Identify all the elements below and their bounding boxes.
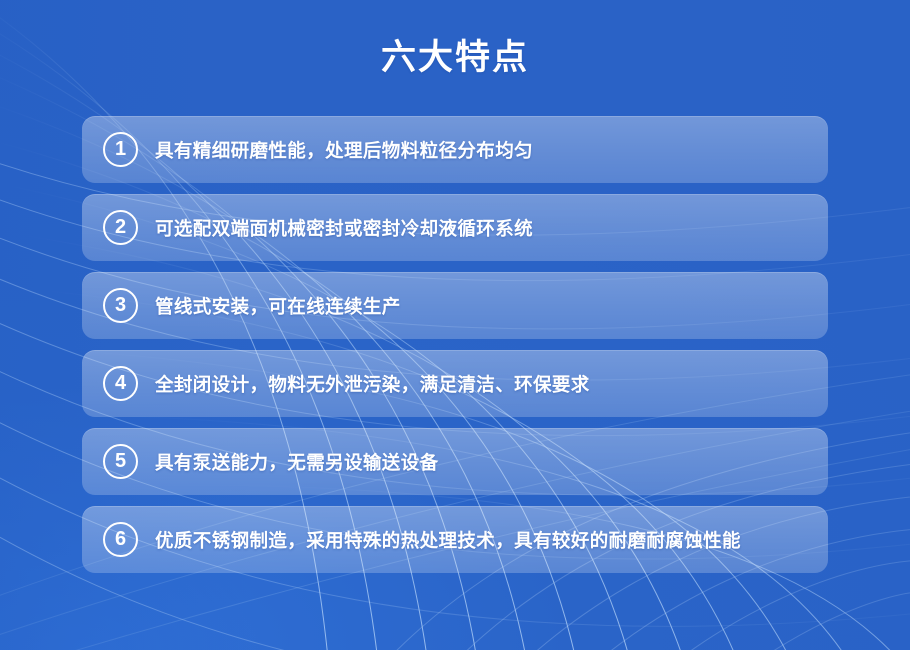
feature-list: 1 具有精细研磨性能，处理后物料粒径分布均匀 2 可选配双端面机械密封或密封冷却… [82,116,828,584]
feature-number-badge-5: 5 [103,444,138,479]
feature-number-badge-2: 2 [103,210,138,245]
feature-highlight-banner: 六大特点 1 具有精细研磨性能，处理后物料粒径分布均匀 2 可选配双端面机械密封… [0,0,910,650]
feature-text-3: 管线式安装，可在线连续生产 [155,293,401,319]
feature-text-6: 优质不锈钢制造，采用特殊的热处理技术，具有较好的耐磨耐腐蚀性能 [155,527,741,553]
feature-item-5[interactable]: 5 具有泵送能力，无需另设输送设备 [82,428,828,495]
feature-text-5: 具有泵送能力，无需另设输送设备 [155,449,439,475]
feature-item-6[interactable]: 6 优质不锈钢制造，采用特殊的热处理技术，具有较好的耐磨耐腐蚀性能 [82,506,828,573]
feature-item-2[interactable]: 2 可选配双端面机械密封或密封冷却液循环系统 [82,194,828,261]
feature-text-2: 可选配双端面机械密封或密封冷却液循环系统 [155,215,533,241]
page-title: 六大特点 [0,36,910,80]
feature-item-4[interactable]: 4 全封闭设计，物料无外泄污染，满足清洁、环保要求 [82,350,828,417]
feature-number-badge-4: 4 [103,366,138,401]
feature-text-4: 全封闭设计，物料无外泄污染，满足清洁、环保要求 [155,371,590,397]
feature-item-1[interactable]: 1 具有精细研磨性能，处理后物料粒径分布均匀 [82,116,828,183]
feature-item-3[interactable]: 3 管线式安装，可在线连续生产 [82,272,828,339]
feature-number-badge-6: 6 [103,522,138,557]
feature-text-1: 具有精细研磨性能，处理后物料粒径分布均匀 [155,137,533,163]
feature-number-badge-3: 3 [103,288,138,323]
feature-number-badge-1: 1 [103,132,138,167]
